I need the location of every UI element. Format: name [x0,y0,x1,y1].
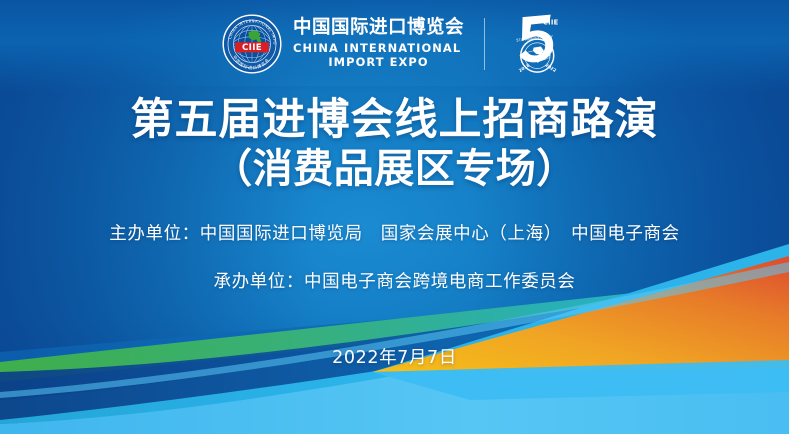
ciie-globe-logo-icon: CIIE CHINA INTERNATIONAL IMPORT EXPO 中国国… [222,14,282,74]
poster-header: CIIE CHINA INTERNATIONAL IMPORT EXPO 中国国… [0,0,789,88]
poster-root: CIIE CHINA INTERNATIONAL IMPORT EXPO 中国国… [0,0,789,434]
organizer-line-undertaker: 承办单位：中国电子商会跨境电商工作委员会 [0,272,789,293]
title-block: 第五届进博会线上招商路演 （消费品展区专场） [0,96,789,193]
organizer-line-host: 主办单位：中国国际进口博览局 国家会展中心（上海） 中国电子商会 [0,224,789,245]
logo-english-line-2: IMPORT EXPO [328,57,428,68]
organizer-block: 主办单位：中国国际进口博览局 国家会展中心（上海） 中国电子商会 承办单位：中国… [0,224,789,293]
svg-text:CIIE: CIIE [543,18,559,26]
event-date: 2022年7月7日 [0,344,789,369]
logo-english-line-1: CHINA INTERNATIONAL [293,43,461,54]
ciie-logo-block: CIIE CHINA INTERNATIONAL IMPORT EXPO 中国国… [222,14,464,74]
svg-text:CIIE: CIIE [242,43,262,53]
ciie-logo-text: 中国国际进口博览会 CHINA INTERNATIONAL IMPORT EXP… [293,19,464,68]
logo-chinese-name: 中国国际进口博览会 [293,19,464,38]
header-divider [484,18,485,70]
svg-text:2018: 2018 [518,63,531,74]
ciie-5th-anniversary-emblem-icon: CIIE 5TH ANNIVERSARY 2018 2022 [505,11,567,77]
poster-sub-title: （消费品展区专场） [0,146,789,193]
poster-main-title: 第五届进博会线上招商路演 [0,96,789,144]
